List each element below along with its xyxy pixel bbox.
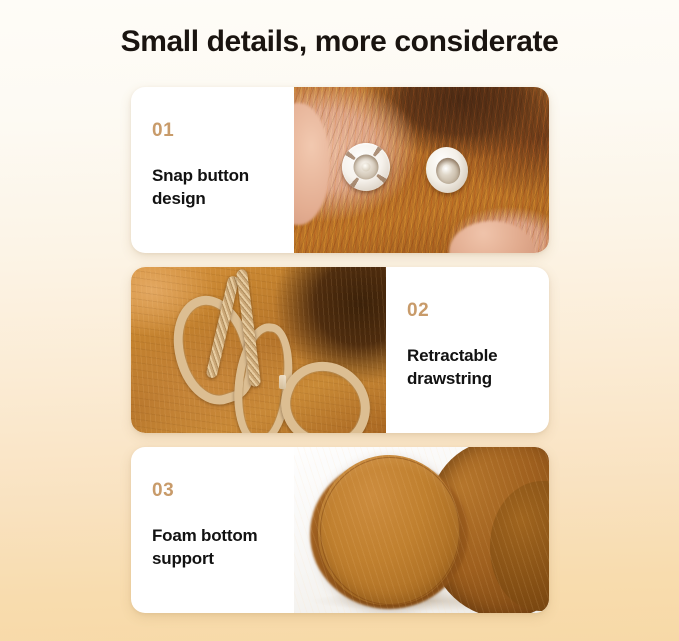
snap-button-slots [342,143,390,191]
page-title: Small details, more considerate [0,25,679,59]
card-number: 02 [407,301,549,320]
feature-card-01: 01 Snap button design [131,87,549,253]
card-heading: Snap button design [152,165,294,210]
fabric-tag [279,375,286,389]
sole-texture [294,447,549,613]
card-text-block: 02 Retractable drawstring [386,267,549,433]
card-number: 01 [152,121,294,140]
photo-drawstring [131,267,386,433]
card-heading: Foam bottom support [152,525,294,570]
photo-foam-sole [294,447,549,613]
card-heading: Retractable drawstring [407,345,549,390]
photo-snap-button [294,87,549,253]
card-number: 03 [152,481,294,500]
snap-button-ring [342,143,390,191]
product-detail-infographic: Small details, more considerate 01 Snap … [0,0,679,641]
card-text-block: 03 Foam bottom support [131,447,294,613]
feature-card-03: 03 Foam bottom support [131,447,549,613]
card-text-block: 01 Snap button design [131,87,294,253]
feature-card-02: 02 Retractable drawstring [131,267,549,433]
